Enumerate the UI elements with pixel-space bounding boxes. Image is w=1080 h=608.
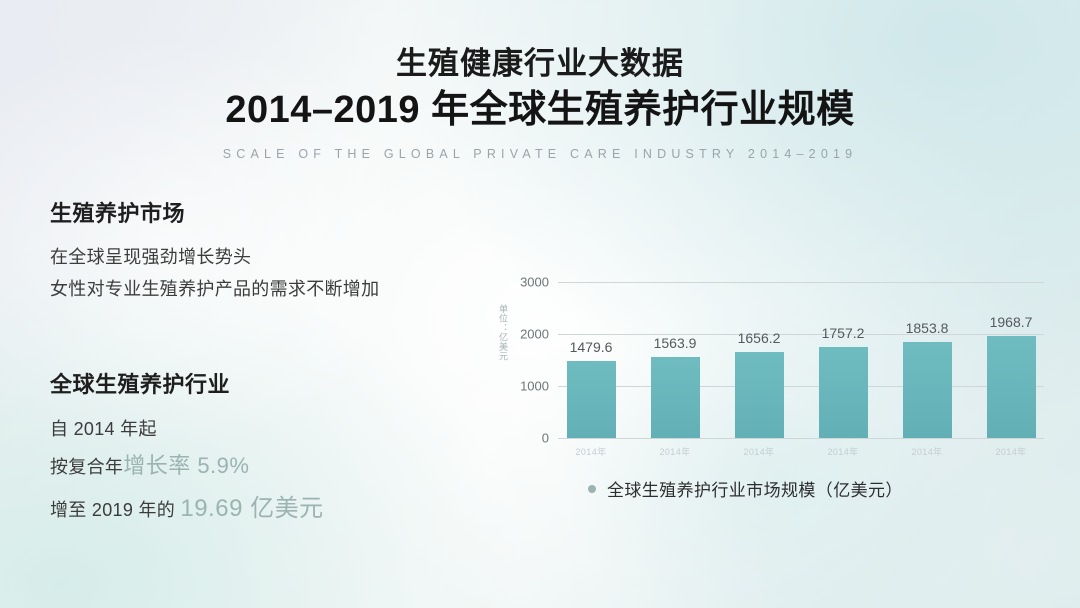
- bar-item[interactable]: 1757.22014年: [814, 282, 872, 438]
- left-content-column: 生殖养护市场 在全球呈现强劲增长势头 女性对专业生殖养护产品的需求不断增加 全球…: [50, 196, 480, 531]
- bar-value-label: 1757.2: [822, 325, 865, 341]
- industry-block-heading: 全球生殖养护行业: [50, 367, 480, 399]
- x-axis-tick-label: 2014年: [659, 445, 690, 458]
- x-axis-tick-label: 2014年: [743, 445, 774, 458]
- bar[interactable]: [651, 357, 700, 438]
- gridline: 0: [558, 438, 1044, 439]
- header: 生殖健康行业大数据 2014–2019 年全球生殖养护行业规模 SCALE OF…: [0, 44, 1080, 161]
- market-block-body: 在全球呈现强劲增长势头 女性对专业生殖养护产品的需求不断增加: [50, 242, 480, 305]
- y-axis-tick-label: 3000: [520, 275, 549, 290]
- legend-marker-icon: [588, 485, 596, 493]
- bar-value-label: 1853.8: [906, 320, 949, 336]
- bar-series: 1479.62014年1563.92014年1656.22014年1757.22…: [558, 282, 1044, 438]
- industry-block-body: 自 2014 年起 按复合年增长率 5.9% 增至 2019 年的 19.69 …: [50, 413, 480, 531]
- cagr-highlight: 增长率 5.9%: [123, 453, 249, 478]
- target-prefix: 增至 2019 年的: [50, 500, 180, 520]
- bar[interactable]: [987, 336, 1036, 438]
- y-axis-unit-label: 单位：亿美元: [494, 304, 508, 361]
- bar-item[interactable]: 1968.72014年: [982, 282, 1040, 438]
- market-block-heading: 生殖养护市场: [50, 196, 480, 228]
- page-title-line-2: 2014–2019 年全球生殖养护行业规模: [0, 86, 1080, 135]
- industry-block-line-2: 按复合年增长率 5.9%: [50, 446, 480, 487]
- x-axis-tick-label: 2014年: [995, 445, 1026, 458]
- bar[interactable]: [819, 347, 868, 438]
- y-axis-tick-label: 0: [542, 431, 549, 446]
- bar-value-label: 1563.9: [654, 335, 697, 351]
- industry-block-line-1: 自 2014 年起: [50, 413, 480, 446]
- industry-block-line-3: 增至 2019 年的 19.69 亿美元: [50, 487, 480, 531]
- cagr-prefix: 按复合年: [50, 457, 123, 477]
- chart-legend: 全球生殖养护行业市场规模（亿美元）: [588, 476, 903, 501]
- bar-item[interactable]: 1656.22014年: [730, 282, 788, 438]
- bar-value-label: 1656.2: [738, 330, 781, 346]
- y-axis-tick-label: 1000: [520, 379, 549, 394]
- y-axis-tick-label: 2000: [520, 327, 549, 342]
- industry-block: 全球生殖养护行业 自 2014 年起 按复合年增长率 5.9% 增至 2019 …: [50, 367, 480, 531]
- bar-item[interactable]: 1853.82014年: [898, 282, 956, 438]
- target-value-highlight: 19.69 亿美元: [180, 495, 323, 522]
- bar[interactable]: [903, 342, 952, 438]
- legend-label: 全球生殖养护行业市场规模（亿美元）: [607, 476, 903, 501]
- market-block: 生殖养护市场 在全球呈现强劲增长势头 女性对专业生殖养护产品的需求不断增加: [50, 196, 480, 305]
- market-block-line-2: 女性对专业生殖养护产品的需求不断增加: [50, 274, 480, 306]
- market-block-line-1: 在全球呈现强劲增长势头: [50, 242, 480, 274]
- bar-chart: 单位：亿美元 0100020003000 1479.62014年1563.920…: [492, 262, 1052, 512]
- plot-area: 0100020003000 1479.62014年1563.92014年1656…: [558, 282, 1044, 438]
- bar-value-label: 1968.7: [990, 314, 1033, 330]
- page-title-line-1: 生殖健康行业大数据: [0, 44, 1080, 84]
- bar-item[interactable]: 1563.92014年: [646, 282, 704, 438]
- chart-plot-region: 单位：亿美元 0100020003000 1479.62014年1563.920…: [492, 262, 1052, 452]
- slide-canvas: 生殖健康行业大数据 2014–2019 年全球生殖养护行业规模 SCALE OF…: [0, 0, 1080, 608]
- bar[interactable]: [567, 361, 616, 438]
- bar-value-label: 1479.6: [570, 339, 613, 355]
- bar[interactable]: [735, 352, 784, 438]
- page-subtitle-english: SCALE OF THE GLOBAL PRIVATE CARE INDUSTR…: [0, 147, 1080, 161]
- x-axis-tick-label: 2014年: [575, 445, 606, 458]
- x-axis-tick-label: 2014年: [827, 445, 858, 458]
- x-axis-tick-label: 2014年: [911, 445, 942, 458]
- bar-item[interactable]: 1479.62014年: [562, 282, 620, 438]
